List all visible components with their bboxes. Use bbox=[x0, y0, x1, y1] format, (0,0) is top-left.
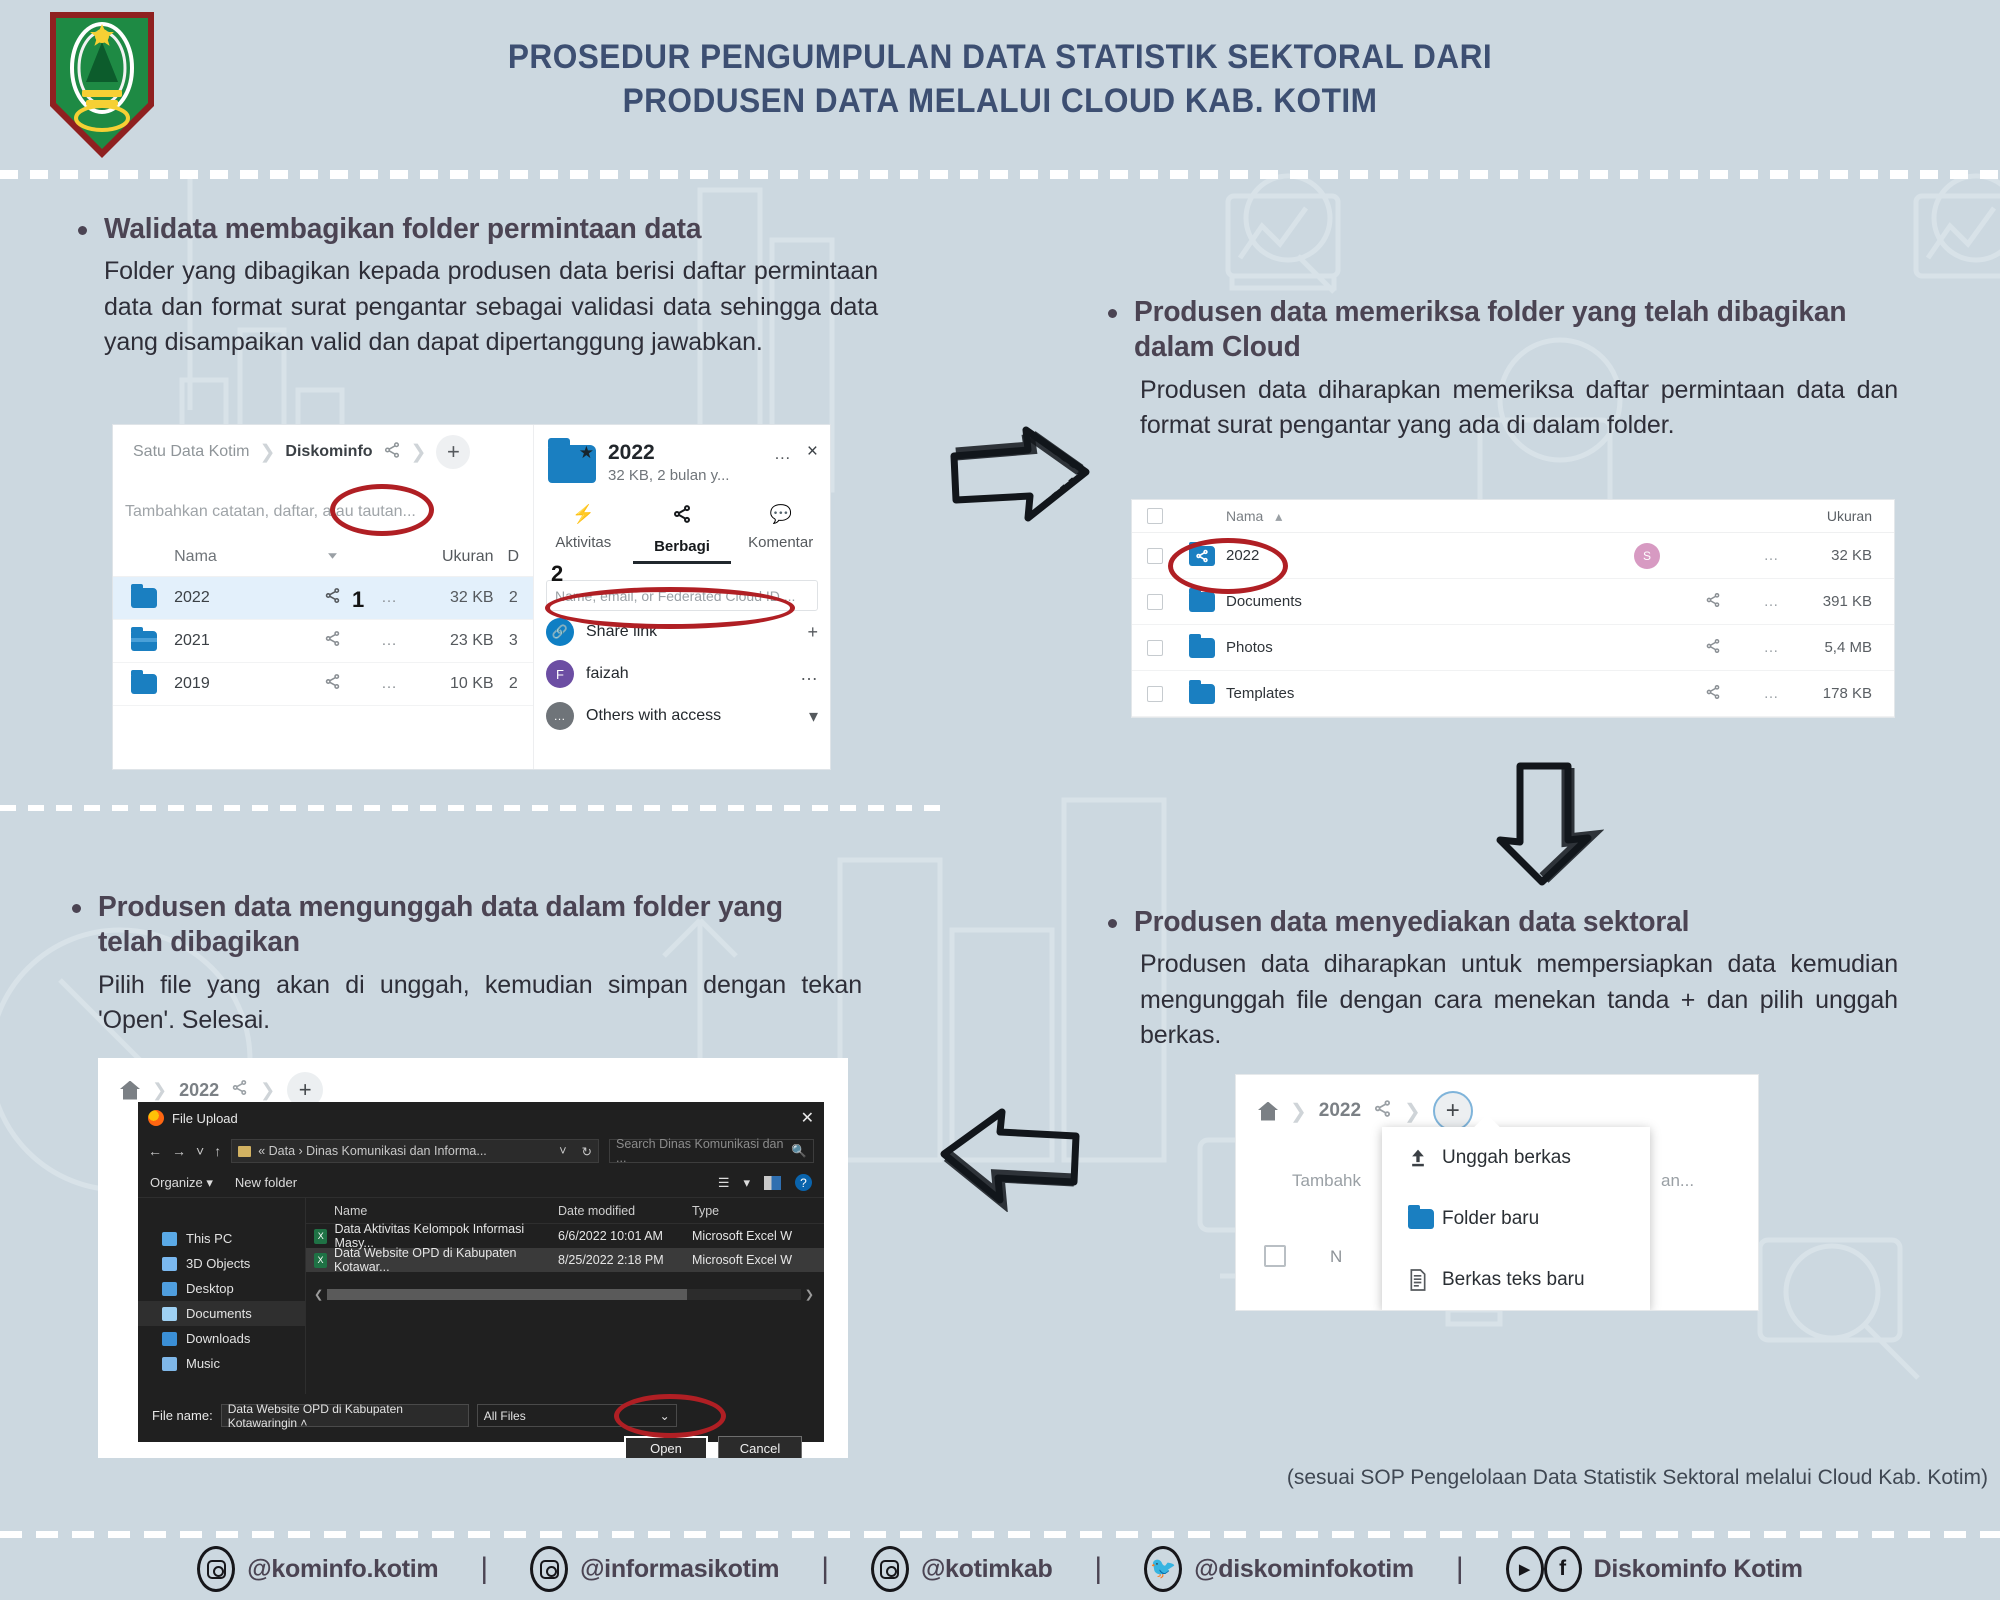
others-label: Others with access bbox=[586, 707, 721, 725]
file-size: 391 KB bbox=[1798, 593, 1894, 610]
tab-label: Berbagi bbox=[654, 538, 710, 555]
breadcrumb-year[interactable]: 2022 bbox=[1319, 1100, 1361, 1122]
step-3-heading: Produsen data mengunggah data dalam fold… bbox=[98, 890, 839, 961]
help-icon[interactable]: ? bbox=[795, 1174, 812, 1191]
breadcrumb-year[interactable]: 2022 bbox=[179, 1080, 219, 1101]
sidebar-tabs: ⚡ Aktivitas Berbagi 💬 Komentar bbox=[534, 504, 830, 564]
more-actions-icon[interactable]: … bbox=[1746, 685, 1798, 702]
file-row[interactable]: X Data Aktivitas Kelompok Informasi Masy… bbox=[306, 1224, 824, 1248]
table-row[interactable]: Photos … 5,4 MB bbox=[1132, 625, 1894, 671]
new-folder-button[interactable]: New folder bbox=[235, 1175, 297, 1190]
back-icon[interactable]: ← bbox=[148, 1143, 162, 1159]
chevron-right-icon: ❯ bbox=[260, 441, 276, 464]
upload-icon bbox=[1408, 1147, 1442, 1169]
bullet-icon bbox=[1108, 919, 1117, 928]
home-icon[interactable] bbox=[1258, 1102, 1278, 1121]
menu-item-label: Folder baru bbox=[1442, 1208, 1539, 1230]
table-row[interactable]: 2019 … 10 KB 2 bbox=[113, 663, 533, 706]
footer-divider-mark: | bbox=[1094, 1552, 1102, 1586]
file-type: Microsoft Excel W bbox=[692, 1229, 824, 1243]
folder-icon bbox=[131, 588, 157, 608]
chevron-right-icon: ❯ bbox=[152, 1080, 167, 1101]
sidebar-subtitle: 32 KB, 2 bulan y... bbox=[608, 467, 729, 484]
annotation-number-1-visible: 1 bbox=[352, 587, 364, 613]
chevron-right-icon: ❯ bbox=[260, 1080, 275, 1101]
file-size: 23 KB bbox=[417, 632, 494, 650]
more-actions-icon[interactable]: … bbox=[774, 444, 793, 464]
file-name-label: File name: bbox=[152, 1408, 213, 1423]
arrow-down-icon bbox=[1484, 752, 1604, 892]
social-label: @kominfo.kotim bbox=[247, 1555, 438, 1584]
nav-item-desktop[interactable]: Desktop bbox=[138, 1276, 305, 1301]
table-row[interactable]: 2022 … 32 KB 2 bbox=[113, 577, 533, 620]
desktop-icon bbox=[162, 1282, 177, 1296]
folder-icon bbox=[1189, 638, 1215, 658]
folder-icon bbox=[1189, 684, 1215, 704]
window-commandbar: Organize ▾ New folder ☰ ▾ ? bbox=[138, 1168, 824, 1198]
menu-item-folder-baru[interactable]: Folder baru bbox=[1382, 1188, 1650, 1249]
file-size: 32 KB bbox=[1798, 547, 1894, 564]
file-list-header: Name Date modified Type bbox=[306, 1198, 824, 1224]
comment-icon: 💬 bbox=[731, 504, 830, 525]
column-type[interactable]: Type bbox=[692, 1204, 824, 1218]
share-icon[interactable] bbox=[1680, 638, 1746, 658]
column-name[interactable]: Name bbox=[306, 1204, 558, 1218]
file-size: 32 KB bbox=[417, 589, 494, 607]
page-header: PROSEDUR PENGUMPULAN DATA STATISTIK SEKT… bbox=[0, 0, 2000, 172]
file-size: 5,4 MB bbox=[1798, 639, 1894, 656]
annotation-ellipse-shared-folder bbox=[1168, 538, 1288, 594]
kotawaringin-timur-crest-icon bbox=[42, 6, 162, 161]
file-name-input[interactable]: Data Website OPD di Kabupaten Kotawaring… bbox=[221, 1404, 469, 1427]
screenshot-file-upload-dialog: ❯ 2022 ❯ + File Upload ✕ ← → ˅ ↑ « Data … bbox=[98, 1058, 848, 1458]
file-list-pane: Name Date modified Type X Data Aktivitas… bbox=[306, 1198, 824, 1394]
step-4-heading: Produsen data menyediakan data sektoral bbox=[1134, 905, 1875, 940]
nav-item-music[interactable]: Music bbox=[138, 1351, 305, 1376]
menu-item-berkas-teks-baru[interactable]: Berkas teks baru bbox=[1382, 1249, 1650, 1310]
page-title: PROSEDUR PENGUMPULAN DATA STATISTIK SEKT… bbox=[349, 36, 1651, 123]
sidebar-title: 2022 bbox=[608, 441, 729, 465]
folder-icon bbox=[1408, 1209, 1434, 1229]
excel-file-icon: X bbox=[314, 1229, 327, 1244]
step-4-text-block: Produsen data menyediakan data sektoral … bbox=[1108, 905, 1898, 1054]
avatar: F bbox=[546, 660, 574, 688]
file-date: 3 bbox=[494, 632, 533, 650]
step-1-heading: Walidata membagikan folder permintaan da… bbox=[104, 212, 855, 247]
recent-locations-icon[interactable]: ˅ bbox=[196, 1143, 204, 1159]
file-table-header: Nama ▴ Ukuran bbox=[1132, 500, 1894, 533]
twitter-icon: 🐦 bbox=[1144, 1546, 1182, 1592]
bullet-icon bbox=[1108, 309, 1117, 318]
tab-aktivitas[interactable]: ⚡ Aktivitas bbox=[534, 504, 633, 564]
share-icon bbox=[633, 504, 732, 529]
text-file-icon bbox=[1408, 1268, 1442, 1292]
address-path: « Data › Dinas Komunikasi dan Informa... bbox=[258, 1144, 487, 1158]
preview-pane-icon[interactable] bbox=[764, 1176, 781, 1190]
cancel-button[interactable]: Cancel bbox=[718, 1436, 802, 1458]
close-icon[interactable]: × bbox=[807, 441, 818, 463]
select-all-checkbox[interactable] bbox=[1264, 1245, 1286, 1267]
more-actions-icon[interactable]: … bbox=[1746, 593, 1798, 610]
footer-divider-mark: | bbox=[1456, 1552, 1464, 1586]
folder-icon bbox=[1189, 592, 1215, 612]
file-name: 2019 bbox=[174, 675, 302, 693]
step-2-body: Produsen data diharapkan memeriksa dafta… bbox=[1140, 373, 1898, 444]
downloads-icon bbox=[162, 1332, 177, 1346]
menu-item-unggah-berkas[interactable]: Unggah berkas bbox=[1382, 1127, 1650, 1188]
social-label: @diskominfokotim bbox=[1194, 1555, 1414, 1584]
menu-item-label: Berkas teks baru bbox=[1442, 1269, 1585, 1291]
search-placeholder: Search Dinas Komunikasi dan ... bbox=[616, 1137, 791, 1165]
share-icon[interactable] bbox=[383, 441, 401, 464]
arrow-left-icon bbox=[930, 1102, 1090, 1212]
more-actions-icon[interactable]: … bbox=[800, 664, 818, 685]
file-name: 2021 bbox=[174, 632, 302, 650]
star-icon: ★ bbox=[579, 443, 594, 463]
add-button[interactable]: + bbox=[1433, 1091, 1473, 1131]
file-name: Data Website OPD di Kabupaten Kotawar... bbox=[334, 1246, 558, 1274]
shared-badge[interactable]: S bbox=[1634, 543, 1660, 569]
share-icon[interactable] bbox=[1373, 1099, 1392, 1123]
up-icon[interactable]: ↑ bbox=[214, 1143, 221, 1159]
tab-komentar[interactable]: 💬 Komentar bbox=[731, 504, 830, 564]
social-item-kotimkab[interactable]: @kotimkab bbox=[871, 1546, 1052, 1592]
screenshot-shared-folder-list: Nama ▴ Ukuran 2022 S … 32 KB Documents bbox=[1132, 500, 1894, 717]
footer-divider-mark: | bbox=[821, 1552, 829, 1586]
file-size: 178 KB bbox=[1798, 685, 1894, 702]
row-checkbox[interactable] bbox=[1147, 548, 1163, 564]
share-icon[interactable] bbox=[302, 630, 363, 652]
share-icon[interactable] bbox=[231, 1079, 248, 1101]
annotation-number-2: 2 bbox=[551, 561, 563, 587]
add-link-icon[interactable]: + bbox=[807, 622, 818, 643]
page-title-line2: PRODUSEN DATA MELALUI CLOUD KAB. KOTIM bbox=[349, 80, 1651, 124]
scroll-left-icon[interactable]: ❮ bbox=[314, 1288, 323, 1301]
tab-berbagi[interactable]: Berbagi bbox=[633, 504, 732, 564]
file-modified: 8/25/2022 2:18 PM bbox=[558, 1253, 692, 1267]
window-titlebar: File Upload ✕ bbox=[138, 1102, 824, 1134]
file-name: Templates bbox=[1226, 685, 1614, 702]
social-item-diskominfokotim[interactable]: 🐦 @diskominfokotim bbox=[1144, 1546, 1414, 1592]
share-icon[interactable] bbox=[302, 673, 363, 695]
file-date: 2 bbox=[494, 589, 533, 607]
more-actions-icon[interactable]: … bbox=[363, 589, 416, 607]
sort-caret-icon bbox=[327, 550, 338, 561]
sort-caret-icon: ▴ bbox=[1275, 508, 1282, 524]
tab-label: Aktivitas bbox=[555, 534, 611, 551]
more-actions-icon[interactable]: … bbox=[363, 675, 416, 693]
chevron-down-icon[interactable]: ▾ bbox=[743, 1175, 750, 1191]
close-icon[interactable]: ✕ bbox=[801, 1108, 814, 1128]
chevron-right-icon: ❯ bbox=[411, 441, 427, 464]
pc-icon bbox=[162, 1232, 177, 1246]
tab-label: Komentar bbox=[748, 534, 813, 551]
view-list-icon[interactable]: ☰ bbox=[718, 1175, 730, 1191]
nav-item-downloads[interactable]: Downloads bbox=[138, 1326, 305, 1351]
social-label: @informasikotim bbox=[580, 1555, 779, 1584]
file-date: 2 bbox=[494, 675, 533, 693]
file-table: Nama Ukuran D 2022 … 32 KB 2 2021 bbox=[113, 537, 533, 706]
firefox-icon bbox=[148, 1110, 164, 1126]
instagram-icon bbox=[871, 1546, 909, 1592]
sidebar-header: ★ 2022 32 KB, 2 bulan y... … × bbox=[534, 425, 830, 490]
footer-divider-mark: | bbox=[480, 1552, 488, 1586]
file-size: 10 KB bbox=[417, 675, 494, 693]
address-bar[interactable]: « Data › Dinas Komunikasi dan Informa...… bbox=[231, 1139, 599, 1163]
row-checkbox[interactable] bbox=[1147, 594, 1163, 610]
row-checkbox[interactable] bbox=[1147, 686, 1163, 702]
file-modified: 6/6/2022 10:01 AM bbox=[558, 1229, 692, 1243]
share-user-label: faizah bbox=[586, 665, 629, 683]
new-item-menu: Unggah berkas Folder baru Berkas teks ba… bbox=[1382, 1127, 1650, 1310]
column-name[interactable]: Nama bbox=[174, 548, 302, 566]
step-3-text-block: Produsen data mengunggah data dalam fold… bbox=[72, 890, 862, 1039]
more-actions-icon[interactable]: … bbox=[363, 632, 416, 650]
step-4-body: Produsen data diharapkan untuk mempersia… bbox=[1140, 947, 1898, 1054]
chevron-down-icon[interactable]: ˅ bbox=[559, 1144, 566, 1158]
column-date-modified[interactable]: Date modified bbox=[558, 1204, 692, 1218]
social-item-kominfo-kotim[interactable]: @kominfo.kotim bbox=[197, 1546, 438, 1592]
page-title-line1: PROSEDUR PENGUMPULAN DATA STATISTIK SEKT… bbox=[349, 36, 1651, 80]
column-size[interactable]: Ukuran bbox=[1798, 508, 1894, 524]
activity-icon: ⚡ bbox=[534, 504, 633, 525]
more-actions-icon[interactable]: … bbox=[1746, 547, 1798, 564]
folder-icon: ★ bbox=[548, 445, 596, 483]
file-table-header: Nama Ukuran D bbox=[113, 537, 533, 577]
instagram-icon bbox=[530, 1546, 568, 1592]
header-divider bbox=[0, 170, 2000, 179]
bullet-icon bbox=[72, 904, 81, 913]
file-upload-window: File Upload ✕ ← → ˅ ↑ « Data › Dinas Kom… bbox=[138, 1102, 824, 1442]
3d-objects-icon bbox=[162, 1257, 177, 1271]
scroll-right-icon[interactable]: ❯ bbox=[805, 1288, 814, 1301]
search-icon: 🔍 bbox=[791, 1144, 807, 1159]
documents-icon bbox=[162, 1307, 177, 1321]
column-date[interactable]: D bbox=[494, 548, 533, 566]
link-icon: 🔗 bbox=[546, 618, 574, 646]
music-icon bbox=[162, 1357, 177, 1371]
select-all-checkbox[interactable] bbox=[1147, 508, 1163, 524]
screenshot-upload-menu: ❯ 2022 ❯ + Tambahk an... N Unggah berkas… bbox=[1236, 1075, 1758, 1310]
mid-divider bbox=[0, 805, 950, 811]
breadcrumb: Satu Data Kotim ❯ Diskominfo ❯ + bbox=[133, 435, 470, 469]
annotation-ellipse-1 bbox=[330, 484, 434, 536]
others-with-access-item[interactable]: … Others with access ▾ bbox=[534, 695, 830, 737]
refresh-icon[interactable]: ↻ bbox=[582, 1144, 592, 1159]
arrow-right-icon bbox=[940, 420, 1100, 530]
share-icon[interactable] bbox=[1680, 684, 1746, 704]
instagram-icon bbox=[197, 1546, 235, 1592]
folder-icon bbox=[131, 674, 157, 694]
note-placeholder-left[interactable]: Tambahk bbox=[1292, 1171, 1361, 1191]
forward-icon[interactable]: → bbox=[172, 1143, 186, 1159]
nav-item-documents[interactable]: Documents bbox=[138, 1301, 305, 1326]
step-2-text-block: Produsen data memeriksa folder yang tela… bbox=[1108, 295, 1898, 444]
chevron-right-icon: ❯ bbox=[1404, 1099, 1421, 1124]
navigation-pane: This PC 3D Objects Desktop Documents Dow… bbox=[138, 1198, 306, 1394]
file-row[interactable]: X Data Website OPD di Kabupaten Kotawar.… bbox=[306, 1248, 824, 1272]
facebook-icon: f bbox=[1544, 1546, 1582, 1592]
chevron-right-icon: ❯ bbox=[1290, 1099, 1307, 1124]
window-footer: File name: Data Website OPD di Kabupaten… bbox=[138, 1394, 824, 1458]
column-size[interactable]: Ukuran bbox=[417, 548, 494, 566]
menu-item-label: Unggah berkas bbox=[1442, 1147, 1571, 1169]
add-button[interactable]: + bbox=[436, 435, 470, 469]
folder-icon bbox=[238, 1146, 251, 1157]
footer-social-bar: @kominfo.kotim | @informasikotim | @koti… bbox=[0, 1538, 2000, 1600]
social-label: @kotimkab bbox=[921, 1555, 1052, 1584]
search-input[interactable]: Search Dinas Komunikasi dan ... 🔍 bbox=[609, 1139, 814, 1163]
step-2-heading: Produsen data memeriksa folder yang tela… bbox=[1134, 295, 1875, 366]
home-icon[interactable] bbox=[120, 1081, 140, 1100]
step-1-body: Folder yang dibagikan kepada produsen da… bbox=[104, 254, 878, 361]
share-icon[interactable] bbox=[1680, 592, 1746, 612]
file-name: Documents bbox=[1226, 593, 1614, 610]
step-3-body: Pilih file yang akan di unggah, kemudian… bbox=[98, 968, 862, 1039]
file-type: Microsoft Excel W bbox=[692, 1253, 824, 1267]
youtube-icon: ▶ bbox=[1506, 1546, 1544, 1592]
column-name[interactable]: N bbox=[1330, 1247, 1342, 1267]
folder-icon bbox=[131, 631, 157, 651]
social-item-diskominfo-kotim[interactable]: ▶ f Diskominfo Kotim bbox=[1506, 1546, 1803, 1592]
bullet-icon bbox=[78, 226, 87, 235]
table-row[interactable]: 2021 … 23 KB 3 bbox=[113, 620, 533, 663]
column-name[interactable]: Nama ▴ bbox=[1226, 508, 1614, 525]
footer-divider bbox=[0, 1531, 2000, 1538]
window-title: File Upload bbox=[172, 1111, 238, 1126]
table-row[interactable]: Templates … 178 KB bbox=[1132, 671, 1894, 717]
breadcrumb-current[interactable]: Diskominfo bbox=[285, 443, 372, 461]
sop-note: (sesuai SOP Pengelolaan Data Statistik S… bbox=[1208, 1466, 1988, 1490]
step-1-text-block: Walidata membagikan folder permintaan da… bbox=[78, 212, 878, 361]
open-button[interactable]: Open bbox=[624, 1436, 708, 1458]
annotation-ellipse-2 bbox=[545, 587, 795, 629]
share-user-item[interactable]: F faizah … bbox=[534, 653, 830, 695]
horizontal-scrollbar[interactable]: ❮ ❯ bbox=[314, 1286, 814, 1302]
file-name: 2022 bbox=[174, 589, 302, 607]
row-checkbox[interactable] bbox=[1147, 640, 1163, 656]
nav-item-3d-objects[interactable]: 3D Objects bbox=[138, 1251, 305, 1276]
window-navbar: ← → ˅ ↑ « Data › Dinas Komunikasi dan In… bbox=[138, 1134, 824, 1168]
note-placeholder-right: an... bbox=[1661, 1171, 1694, 1191]
organize-button[interactable]: Organize ▾ bbox=[150, 1175, 213, 1191]
social-label: Diskominfo Kotim bbox=[1594, 1555, 1803, 1584]
social-item-informasikotim[interactable]: @informasikotim bbox=[530, 1546, 779, 1592]
breadcrumb: ❯ 2022 ❯ + bbox=[1258, 1091, 1473, 1131]
window-body: This PC 3D Objects Desktop Documents Dow… bbox=[138, 1198, 824, 1394]
others-icon: … bbox=[546, 702, 574, 730]
excel-file-icon: X bbox=[314, 1253, 327, 1268]
file-name: Photos bbox=[1226, 639, 1614, 656]
chevron-down-icon[interactable]: ▾ bbox=[809, 706, 818, 727]
more-actions-icon[interactable]: … bbox=[1746, 639, 1798, 656]
annotation-ellipse-open-button bbox=[614, 1394, 726, 1438]
nav-item-this-pc[interactable]: This PC bbox=[138, 1226, 305, 1251]
breadcrumb-root[interactable]: Satu Data Kotim bbox=[133, 443, 250, 461]
